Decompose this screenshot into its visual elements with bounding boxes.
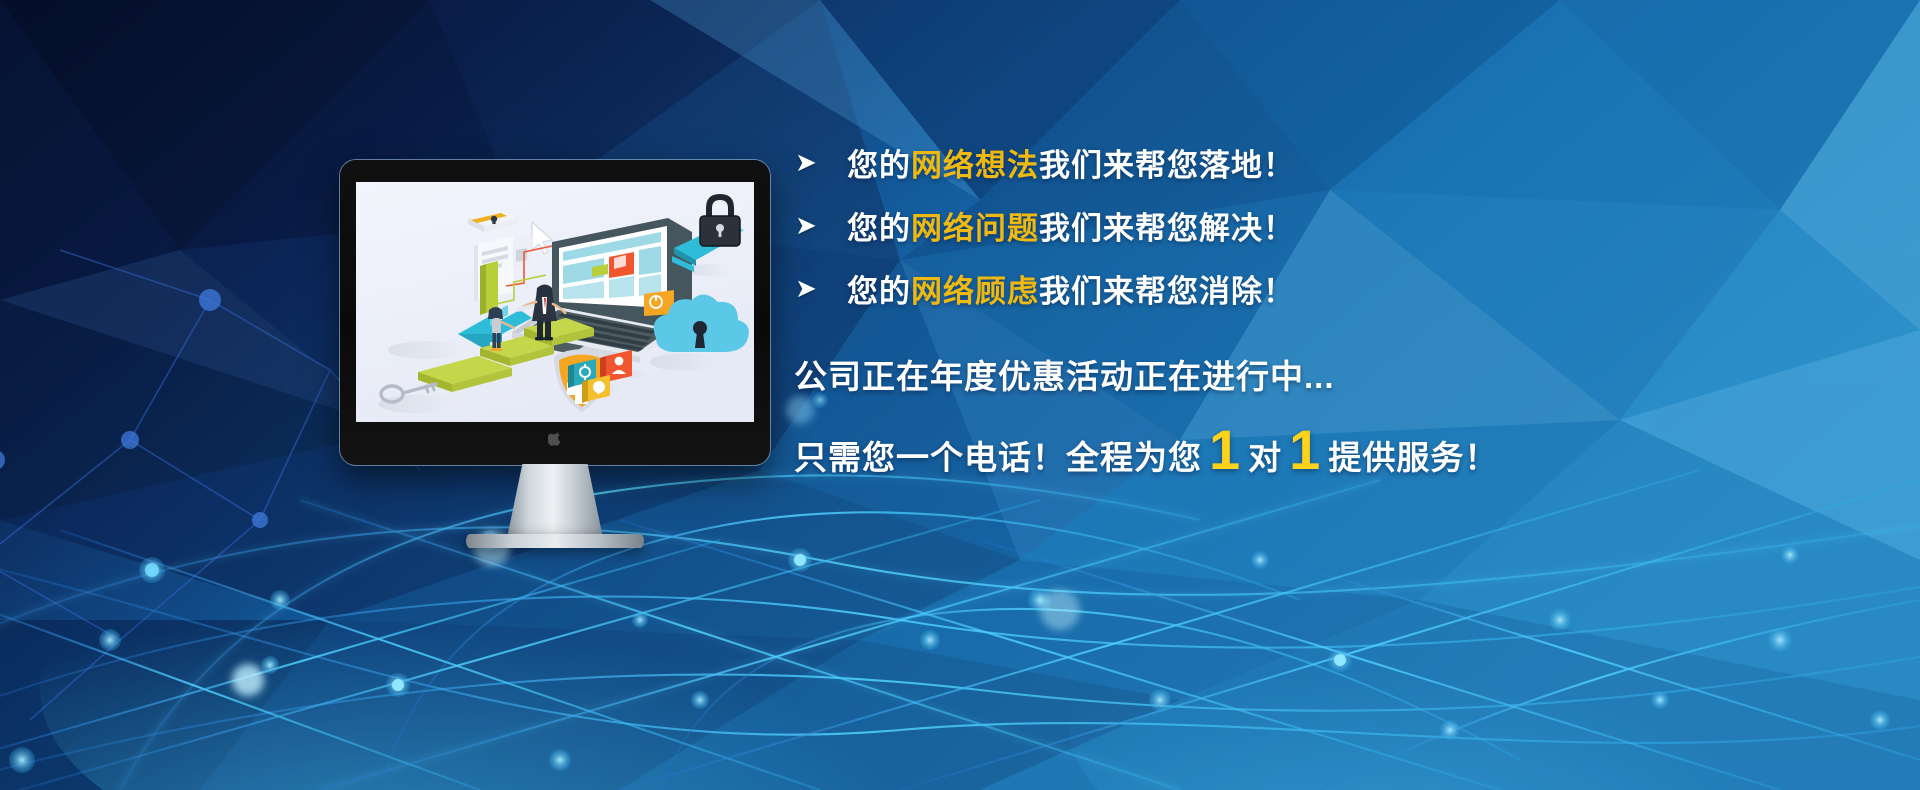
- monitor-screen: [356, 182, 754, 422]
- service-line: 只需您一个电话！全程为您 1 对 1 提供服务！: [794, 428, 1805, 479]
- bullet-prefix: 您的: [847, 211, 911, 246]
- bullet-suffix: 我们来帮您解决！: [1039, 211, 1295, 246]
- bullet-highlight: 网络问题: [911, 211, 1039, 246]
- bullet-suffix: 我们来帮您消除！: [1039, 274, 1295, 309]
- service-number-second: 1: [1282, 428, 1328, 473]
- bullet-item: ➤ 您的网络顾虑我们来帮您消除！: [795, 258, 1805, 318]
- headline-text-block: ➤ 您的网络想法我们来帮您落地！ ➤ 您的网络问题我们来帮您解决！ ➤ 您的网络…: [795, 132, 1805, 479]
- bullet-text: 您的网络想法我们来帮您落地！: [847, 140, 1295, 185]
- bullet-text: 您的网络顾虑我们来帮您消除！: [847, 266, 1295, 311]
- promo-line: 公司正在年度优惠活动正在进行中...: [794, 350, 1805, 398]
- monitor-stand-base: [466, 534, 644, 548]
- bullet-highlight: 网络想法: [911, 148, 1039, 183]
- bullet-text: 您的网络问题我们来帮您解决！: [847, 203, 1295, 248]
- arrow-bullet-icon: ➤: [795, 149, 847, 175]
- imac-monitor-illustration: [340, 160, 770, 550]
- arrow-bullet-icon: ➤: [795, 275, 847, 301]
- service-part2: 提供服务！: [1328, 431, 1498, 479]
- service-number-first: 1: [1202, 428, 1248, 473]
- monitor-stand-neck: [507, 464, 603, 538]
- bullet-suffix: 我们来帮您落地！: [1039, 148, 1295, 183]
- bullet-highlight: 网络顾虑: [911, 274, 1039, 309]
- monitor-body: [340, 160, 770, 465]
- promotional-banner: ➤ 您的网络想法我们来帮您落地！ ➤ 您的网络问题我们来帮您解决！ ➤ 您的网络…: [0, 0, 1920, 790]
- bullet-item: ➤ 您的网络问题我们来帮您解决！: [795, 195, 1805, 255]
- bullet-prefix: 您的: [847, 148, 911, 183]
- apple-logo: [548, 432, 562, 449]
- bullet-item: ➤ 您的网络想法我们来帮您落地！: [795, 132, 1805, 192]
- service-middle: 对: [1248, 431, 1282, 479]
- arrow-bullet-icon: ➤: [795, 212, 847, 238]
- service-part1: 只需您一个电话！全程为您: [794, 431, 1202, 479]
- bullet-prefix: 您的: [847, 274, 911, 309]
